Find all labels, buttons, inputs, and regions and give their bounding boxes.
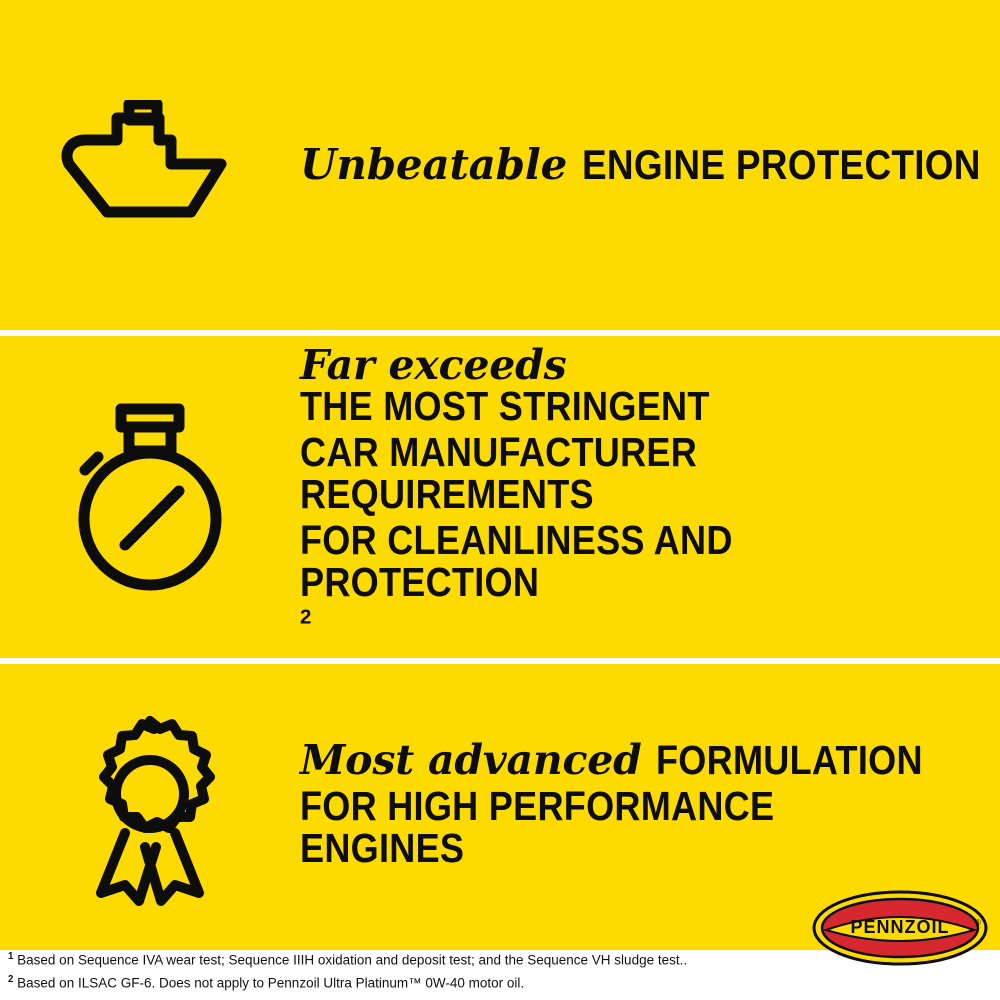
oil-can-icon — [0, 100, 300, 230]
panel-3-text: Most advanced FORMULATION FOR HIGH PERFO… — [300, 740, 1000, 873]
headline-bold: ENGINE PROTECTION — [582, 144, 981, 187]
headline-bold: FOR CLEANLINESS AND PROTECTION — [300, 520, 881, 604]
registered-mark: ® — [975, 918, 981, 927]
headline-bold: FORMULATION — [656, 740, 923, 782]
footnote-ref-2: 2 — [300, 605, 311, 628]
headline-bold: CAR MANUFACTURER REQUIREMENTS — [300, 432, 881, 516]
headline-line: CAR MANUFACTURER REQUIREMENTS — [300, 432, 960, 516]
headline-italic: Unbeatable — [300, 140, 582, 189]
footnote-2: 2 Based on ILSAC GF-6. Does not apply to… — [8, 972, 708, 994]
headline-bold: THE MOST STRINGENT — [300, 386, 710, 428]
stopwatch-icon — [0, 397, 300, 597]
headline-italic: Most advanced — [300, 736, 656, 784]
feature-panel-engine-protection: Unbeatable ENGINE PROTECTION1 — [0, 0, 1000, 330]
award-ribbon-icon — [0, 707, 300, 907]
headline-line: FOR CLEANLINESS AND PROTECTION2 — [300, 520, 960, 645]
headline-line: Far exceeds THE MOST STRINGENT — [300, 345, 960, 429]
panel-2-text: Far exceeds THE MOST STRINGENT CAR MANUF… — [300, 345, 1000, 650]
pennzoil-logo: PENNZOIL ® — [812, 890, 988, 966]
headline-italic: Far exceeds — [300, 341, 567, 389]
footnotes: 1 Based on Sequence IVA wear test; Seque… — [8, 949, 708, 994]
footnote-1: 1 Based on Sequence IVA wear test; Seque… — [8, 949, 708, 971]
panel-1-text: Unbeatable ENGINE PROTECTION1 — [300, 144, 1000, 187]
headline-line: Unbeatable ENGINE PROTECTION1 — [300, 144, 1000, 187]
footnote-1-text: Based on Sequence IVA wear test; Sequenc… — [13, 953, 687, 968]
pennzoil-logo-text: PENNZOIL — [850, 917, 949, 937]
headline-bold: FOR HIGH PERFORMANCE ENGINES — [300, 786, 881, 870]
footnote-2-text: Based on ILSAC GF-6. Does not apply to P… — [13, 975, 524, 990]
headline-line: Most advanced FORMULATION — [300, 740, 960, 782]
feature-panel-stringent-requirements: Far exceeds THE MOST STRINGENT CAR MANUF… — [0, 336, 1000, 658]
headline-line: FOR HIGH PERFORMANCE ENGINES — [300, 786, 960, 870]
